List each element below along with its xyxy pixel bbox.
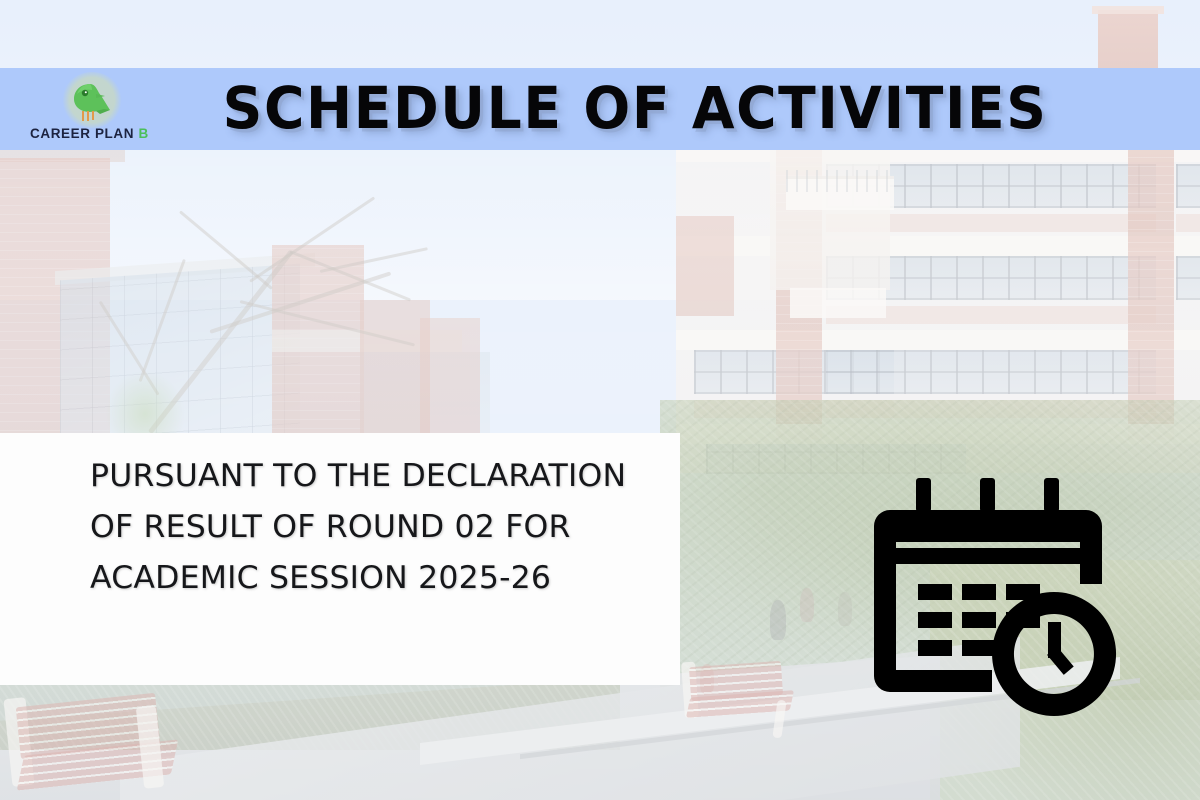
page-title-text: SCHEDULE OF ACTIVITIES bbox=[223, 75, 1048, 142]
logo-wordmark-main: CAREER PLAN bbox=[30, 126, 138, 141]
header-banner: SCHEDULE OF ACTIVITIES CAREER PLAN B bbox=[0, 68, 1200, 150]
poster-canvas: SCHEDULE OF ACTIVITIES CAREER PLAN B PUR… bbox=[0, 0, 1200, 800]
brand-logo[interactable]: CAREER PLAN B bbox=[24, 70, 174, 148]
headline-text: PURSUANT TO THE DECLARATION OF RESULT OF… bbox=[90, 451, 670, 604]
page-title: SCHEDULE OF ACTIVITIES bbox=[0, 68, 1200, 150]
logo-wordmark: CAREER PLAN B bbox=[30, 126, 180, 141]
headline-panel: PURSUANT TO THE DECLARATION OF RESULT OF… bbox=[0, 433, 680, 685]
calendar-clock-icon bbox=[868, 472, 1128, 722]
bird-icon bbox=[66, 76, 118, 126]
logo-wordmark-accent: B bbox=[138, 126, 148, 141]
